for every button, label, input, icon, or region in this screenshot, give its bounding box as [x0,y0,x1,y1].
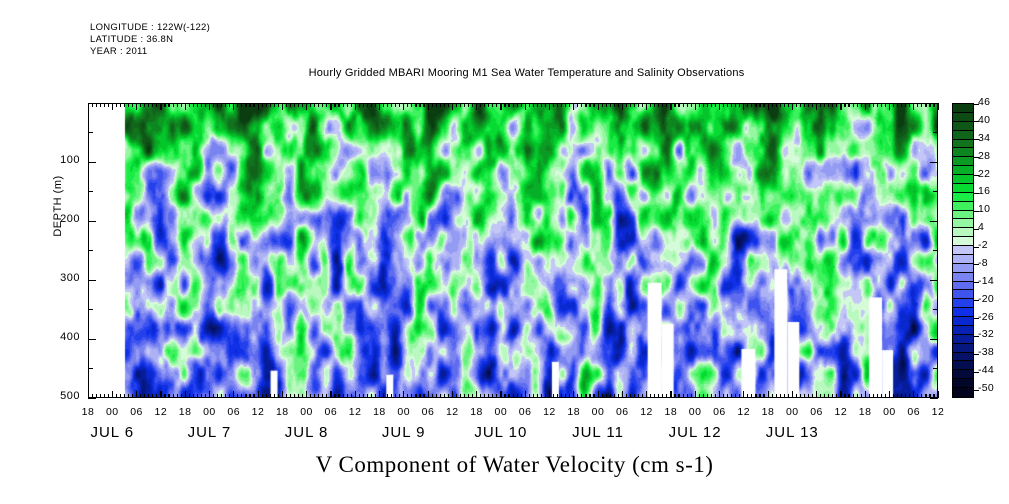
y-tick [88,309,93,310]
x-tick-bottom [504,394,505,398]
colorbar-segment [953,388,973,397]
x-tick-top [225,103,226,107]
x-tick-top [517,103,518,107]
x-tick-top [351,103,352,107]
y-tick [88,280,96,281]
x-tick-top [585,103,586,107]
colorbar-segment [953,148,973,157]
x-tick-bottom [549,391,550,398]
x-tick-bottom [177,394,178,398]
x-tick-bottom [751,394,752,398]
x-tick-bottom [541,394,542,398]
x-tick-bottom [258,391,259,398]
x-tick-bottom [869,394,870,398]
x-tick-bottom [917,394,918,398]
x-tick-top [776,103,777,107]
x-tick-bottom [88,391,89,398]
x-tick-top [359,103,360,107]
x-tick-top [387,103,388,107]
x-tick-top [768,103,769,110]
colorbar-segment [953,379,973,388]
x-tick-top [379,103,380,110]
x-tick-top [193,103,194,107]
x-tick-bottom [144,394,145,398]
x-axis-day-label: JUL 10 [456,424,546,441]
x-tick-bottom [585,394,586,398]
x-tick-top [160,103,161,110]
x-tick-top [249,103,250,107]
x-tick-top [541,103,542,107]
x-tick-top [298,103,299,107]
x-tick-top [326,103,327,107]
x-axis-day-label: JUL 11 [553,424,643,441]
x-tick-top [262,103,263,107]
x-tick-top [274,103,275,107]
colorbar-segment [953,344,973,353]
x-tick-bottom [581,394,582,398]
x-tick-bottom [666,394,667,398]
x-tick-top [245,103,246,107]
x-tick-bottom [650,394,651,398]
x-tick-top [209,103,210,110]
x-tick-top [865,103,866,110]
x-tick-top [610,103,611,107]
colorbar-segment [953,237,973,246]
x-tick-bottom [432,394,433,398]
x-tick-bottom [561,394,562,398]
x-tick-bottom [92,394,93,398]
x-tick-bottom [464,394,465,398]
colorbar-tick-mark [974,354,979,355]
x-tick-top [853,103,854,107]
x-tick-top [306,103,307,110]
x-tick-top [901,103,902,107]
colorbar-tick-label: 22 [978,168,1008,180]
colorbar-segment [953,264,973,273]
x-tick-bottom [873,394,874,398]
x-tick-bottom [181,394,182,398]
x-tick-bottom [545,394,546,398]
x-tick-bottom [124,394,125,398]
x-axis-day-label: JUL 13 [747,424,837,441]
x-tick-bottom [164,394,165,398]
x-tick-top [938,103,939,110]
colorbar-tick-mark [974,282,979,283]
x-tick-top [905,103,906,107]
x-tick-top [314,103,315,107]
x-tick-top [921,103,922,107]
x-tick-bottom [132,394,133,398]
x-tick-top [286,103,287,107]
x-tick-bottom [589,394,590,398]
x-tick-bottom [577,394,578,398]
x-tick-top [322,103,323,107]
x-tick-bottom [173,394,174,398]
x-tick-top [691,103,692,107]
x-tick-bottom [630,394,631,398]
x-tick-top [929,103,930,107]
x-tick-bottom [881,394,882,398]
x-tick-top [464,103,465,107]
x-tick-bottom [743,391,744,398]
x-tick-bottom [772,394,773,398]
x-tick-bottom [423,394,424,398]
y-tick-right [933,309,938,310]
x-tick-bottom [156,394,157,398]
x-tick-bottom [399,394,400,398]
colorbar-segment [953,122,973,131]
x-tick-top [253,103,254,107]
x-tick-bottom [448,394,449,398]
x-tick-bottom [889,391,890,398]
x-tick-top [181,103,182,107]
x-tick-bottom [929,394,930,398]
x-tick-bottom [436,394,437,398]
colorbar-tick-label: -8 [978,257,1008,269]
x-tick-bottom [747,394,748,398]
x-tick-top [496,103,497,107]
x-tick-bottom [812,394,813,398]
x-tick-bottom [678,394,679,398]
x-tick-bottom [326,394,327,398]
x-tick-top [792,103,793,110]
x-tick-bottom [189,394,190,398]
x-tick-top [844,103,845,107]
x-tick-bottom [739,394,740,398]
colorbar-segment [953,219,973,228]
x-tick-top [391,103,392,107]
x-tick-top [577,103,578,107]
colorbar-tick-label: -20 [978,293,1008,305]
colorbar-segment [953,335,973,344]
x-tick-bottom [274,394,275,398]
x-tick-bottom [306,391,307,398]
x-tick-top [820,103,821,107]
x-tick-bottom [452,391,453,398]
x-tick-top [727,103,728,107]
x-tick-bottom [638,394,639,398]
x-tick-bottom [533,394,534,398]
x-tick-top [824,103,825,107]
x-tick-bottom [816,391,817,398]
x-tick-top [735,103,736,107]
x-tick-bottom [472,394,473,398]
colorbar-segment [953,202,973,211]
colorbar-tick-label: 4 [978,221,1008,233]
x-tick-bottom [460,394,461,398]
x-tick-top [440,103,441,107]
x-tick-top [739,103,740,107]
x-tick-bottom [792,391,793,398]
x-tick-bottom [921,394,922,398]
colorbar-tick-mark [974,121,979,122]
x-tick-bottom [241,394,242,398]
x-tick-bottom [209,391,210,398]
y-axis-tick-label: 400 [36,331,80,343]
x-tick-bottom [836,394,837,398]
x-tick-bottom [687,394,688,398]
x-tick-bottom [711,394,712,398]
x-tick-top [500,103,501,110]
x-tick-top [294,103,295,107]
x-tick-bottom [249,394,250,398]
x-tick-bottom [217,394,218,398]
colorbar-tick-mark [974,336,979,337]
x-tick-top [347,103,348,107]
x-tick-top [432,103,433,107]
x-tick-top [695,103,696,110]
x-tick-bottom [553,394,554,398]
x-tick-bottom [136,391,137,398]
x-tick-bottom [796,394,797,398]
x-tick-top [909,103,910,107]
x-tick-bottom [780,394,781,398]
colorbar-segment [953,282,973,291]
x-tick-top [436,103,437,107]
x-tick-bottom [253,394,254,398]
x-tick-bottom [763,394,764,398]
x-axis-day-label: JUL 12 [650,424,740,441]
x-tick-bottom [865,391,866,398]
x-tick-top [92,103,93,107]
x-tick-bottom [759,394,760,398]
x-tick-bottom [229,394,230,398]
x-tick-top [258,103,259,110]
x-tick-top [508,103,509,107]
x-tick-bottom [476,391,477,398]
x-tick-top [646,103,647,110]
x-tick-bottom [286,394,287,398]
colorbar-tick-label: -26 [978,311,1008,323]
x-tick-bottom [715,394,716,398]
x-tick-bottom [913,391,914,398]
x-tick-top [205,103,206,107]
x-tick-top [861,103,862,107]
x-tick-top [743,103,744,110]
x-tick-bottom [768,391,769,398]
x-tick-top [460,103,461,107]
x-tick-top [634,103,635,107]
colorbar-tick-label: -14 [978,275,1008,287]
colorbar-segment [953,326,973,335]
colorbar-segment [953,175,973,184]
x-tick-bottom [440,394,441,398]
colorbar-segment [953,255,973,264]
x-tick-top [144,103,145,107]
x-tick-bottom [735,394,736,398]
x-tick-top [452,103,453,110]
x-tick-top [873,103,874,107]
x-tick-top [747,103,748,107]
x-tick-bottom [893,394,894,398]
x-tick-top [152,103,153,107]
x-tick-bottom [245,394,246,398]
colorbar-tick-mark [974,104,979,105]
x-tick-top [881,103,882,107]
x-tick-bottom [909,394,910,398]
x-tick-top [857,103,858,107]
x-tick-top [415,103,416,107]
x-tick-top [836,103,837,107]
station-metadata: LONGITUDE : 122W(-122) LATITUDE : 36.8N … [90,22,210,59]
x-tick-top [484,103,485,107]
x-tick-bottom [901,394,902,398]
x-tick-top [173,103,174,107]
x-tick-bottom [529,394,530,398]
x-tick-top [525,103,526,110]
x-tick-top [504,103,505,107]
x-tick-bottom [221,394,222,398]
x-tick-bottom [355,391,356,398]
x-tick-bottom [496,394,497,398]
y-tick [88,250,93,251]
x-tick-bottom [877,394,878,398]
x-tick-top [565,103,566,107]
x-tick-top [626,103,627,107]
x-tick-bottom [933,394,934,398]
x-tick-top [468,103,469,107]
y-tick [88,339,96,340]
colorbar-segment [953,193,973,202]
x-tick-bottom [322,394,323,398]
x-tick-bottom [938,391,939,398]
x-tick-bottom [606,394,607,398]
x-tick-bottom [387,394,388,398]
x-tick-top [812,103,813,107]
x-tick-top [266,103,267,107]
x-tick-bottom [468,394,469,398]
x-tick-top [840,103,841,110]
x-tick-top [363,103,364,107]
x-tick-bottom [343,394,344,398]
x-tick-bottom [140,394,141,398]
x-tick-top [423,103,424,107]
y-tick-right [933,250,938,251]
x-tick-top [784,103,785,107]
x-axis-day-label: JUL 9 [359,424,449,441]
x-tick-top [913,103,914,110]
colorbar-tick-label: -38 [978,346,1008,358]
x-tick-top [140,103,141,107]
x-tick-bottom [148,394,149,398]
x-tick-bottom [844,394,845,398]
x-tick-top [148,103,149,107]
x-tick-bottom [565,394,566,398]
x-tick-top [553,103,554,107]
x-tick-top [581,103,582,107]
x-tick-bottom [513,394,514,398]
x-tick-top [816,103,817,110]
x-tick-bottom [925,394,926,398]
x-tick-bottom [334,394,335,398]
x-tick-top [383,103,384,107]
x-tick-top [885,103,886,107]
x-tick-top [772,103,773,107]
x-tick-top [622,103,623,110]
x-tick-top [124,103,125,107]
x-tick-bottom [197,394,198,398]
x-tick-top [662,103,663,107]
x-tick-bottom [885,394,886,398]
x-tick-top [877,103,878,107]
colorbar-segment [953,184,973,193]
x-tick-bottom [654,394,655,398]
x-tick-top [933,103,934,107]
y-tick [88,221,96,222]
x-tick-top [828,103,829,107]
x-tick-top [156,103,157,107]
colorbar-segment [953,353,973,362]
x-tick-top [355,103,356,110]
x-tick-bottom [593,394,594,398]
x-tick-bottom [314,394,315,398]
x-tick-bottom [788,394,789,398]
x-tick-bottom [359,394,360,398]
x-tick-bottom [128,394,129,398]
x-tick-top [666,103,667,107]
x-tick-top [310,103,311,107]
x-tick-bottom [108,394,109,398]
x-tick-top [367,103,368,107]
x-tick-bottom [488,394,489,398]
x-tick-top [678,103,679,107]
x-tick-top [233,103,234,110]
x-tick-bottom [262,394,263,398]
x-tick-bottom [456,394,457,398]
colorbar-segment [953,299,973,308]
x-tick-bottom [193,394,194,398]
x-tick-bottom [703,394,704,398]
x-tick-bottom [517,394,518,398]
colorbar-tick-mark [974,390,979,391]
x-tick-bottom [205,394,206,398]
x-tick-top [707,103,708,107]
x-tick-bottom [152,394,153,398]
latitude-text: LATITUDE : 36.8N [90,34,173,45]
x-tick-top [537,103,538,107]
x-tick-bottom [622,391,623,398]
x-tick-bottom [201,394,202,398]
x-tick-top [399,103,400,107]
x-tick-bottom [832,394,833,398]
colorbar-tick-mark [974,264,979,265]
x-tick-top [533,103,534,107]
colorbar-segment [953,308,973,317]
x-tick-top [164,103,165,107]
x-tick-top [630,103,631,107]
x-tick-bottom [634,394,635,398]
x-tick-top [780,103,781,107]
x-tick-top [428,103,429,110]
colorbar-tick-label: 16 [978,185,1008,197]
x-tick-top [197,103,198,107]
x-tick-top [116,103,117,107]
x-tick-top [808,103,809,107]
x-tick-top [201,103,202,107]
x-tick-top [561,103,562,107]
x-tick-top [213,103,214,107]
x-tick-top [136,103,137,110]
x-tick-bottom [820,394,821,398]
y-tick [88,368,93,369]
x-tick-top [407,103,408,107]
x-tick-bottom [573,391,574,398]
x-tick-bottom [330,391,331,398]
x-tick-bottom [383,394,384,398]
colorbar-segment [953,140,973,149]
x-tick-top [270,103,271,107]
x-axis-day-label: JUL 7 [164,424,254,441]
